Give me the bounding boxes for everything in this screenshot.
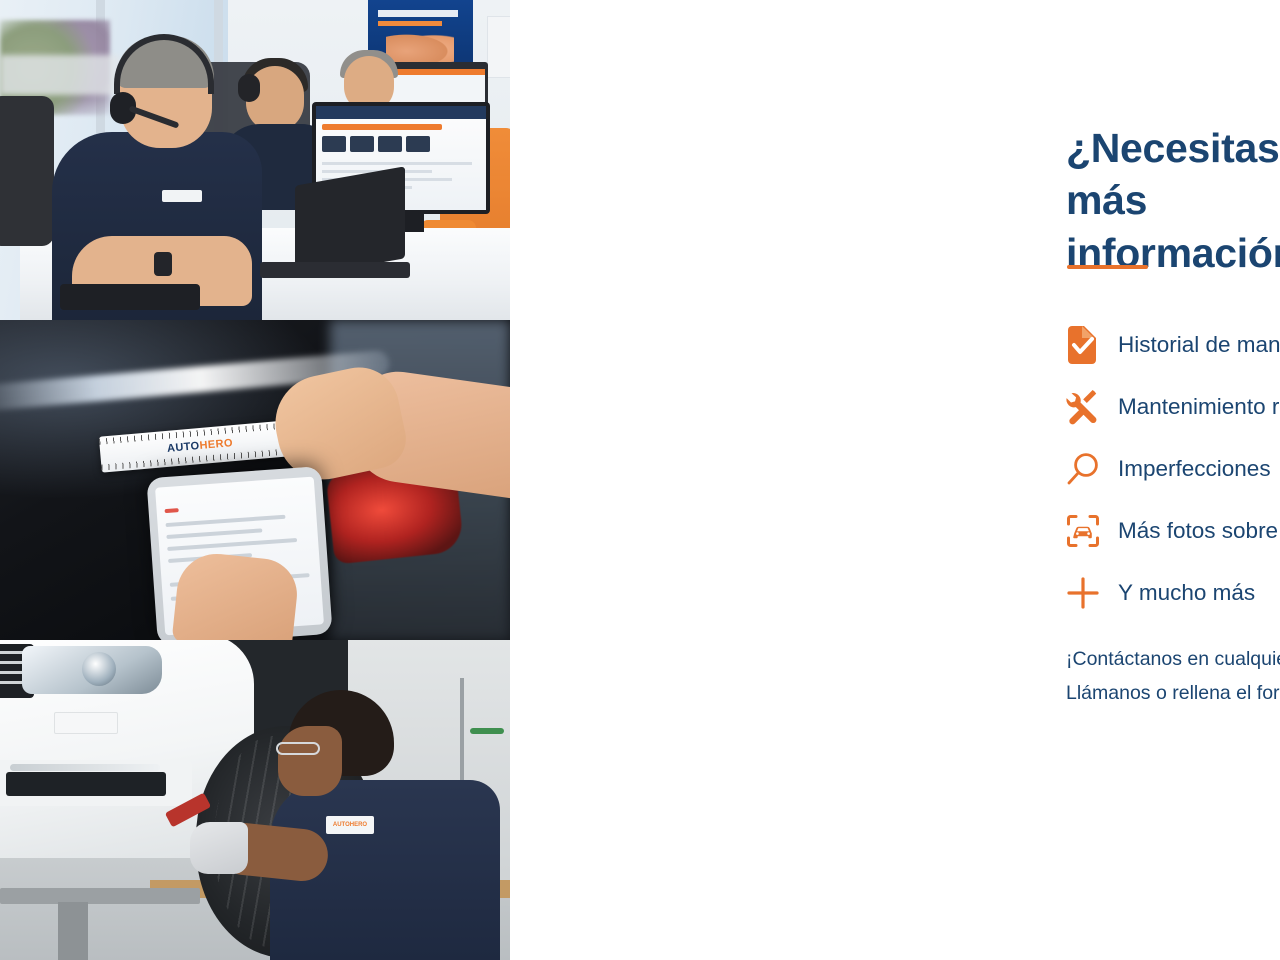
photo-column: AUTOHERO bbox=[0, 0, 510, 960]
car-lift-arm bbox=[0, 888, 200, 904]
ruler-brand: AUTOHERO bbox=[167, 437, 234, 455]
poster-accent bbox=[378, 21, 442, 26]
call-center-agents-photo bbox=[0, 0, 510, 320]
feature-item-imperfecciones: Imperfecciones bbox=[1066, 438, 1280, 500]
poster-bar bbox=[378, 10, 458, 17]
desk-tablet bbox=[60, 284, 200, 310]
feature-label: Imperfecciones bbox=[1118, 456, 1271, 482]
page-title: ¿Necesitas más información? bbox=[1066, 122, 1280, 279]
feature-item-mantenimiento: Mantenimiento realizado bbox=[1066, 376, 1280, 438]
feature-label: Y mucho más bbox=[1118, 580, 1255, 606]
tools-icon bbox=[1066, 389, 1118, 425]
laptop-base bbox=[260, 262, 410, 278]
plus-icon bbox=[1066, 576, 1118, 610]
promo-banner: AUTOHERO bbox=[0, 0, 1280, 960]
wall-notice bbox=[487, 16, 510, 78]
mechanic: AUTOHERO bbox=[270, 690, 500, 960]
car-inspection-photo: AUTOHERO bbox=[0, 320, 510, 640]
workshop-wheel-photo: AUTOHERO bbox=[0, 640, 510, 960]
feature-label: Más fotos sobre el coche bbox=[1118, 518, 1280, 544]
feature-item-fotos: Más fotos sobre el coche bbox=[1066, 500, 1280, 562]
uniform-patch: AUTOHERO bbox=[326, 816, 374, 834]
title-divider bbox=[1067, 265, 1148, 269]
feature-item-historial: Historial de mantenimientos bbox=[1066, 314, 1280, 376]
agent-one bbox=[42, 40, 272, 320]
car-photo-icon bbox=[1066, 514, 1118, 548]
feature-list: Historial de mantenimientos Mantenimient… bbox=[1066, 314, 1280, 624]
feature-label: Historial de mantenimientos bbox=[1118, 332, 1280, 358]
magnifier-icon bbox=[1066, 452, 1118, 486]
car-lift-post bbox=[58, 902, 88, 960]
ruler-brand-auto: AUTO bbox=[167, 440, 201, 455]
feature-item-mas: Y mucho más bbox=[1066, 562, 1280, 624]
ruler-brand-hero: HERO bbox=[199, 437, 233, 452]
document-check-icon bbox=[1066, 326, 1118, 364]
contact-text: ¡Contáctanos en cualquier momento para m… bbox=[1066, 643, 1280, 710]
content-panel: ¿Necesitas más información? Estamos enca… bbox=[510, 0, 1280, 960]
laptop-screen bbox=[295, 166, 405, 277]
feature-label: Mantenimiento realizado bbox=[1118, 394, 1280, 420]
